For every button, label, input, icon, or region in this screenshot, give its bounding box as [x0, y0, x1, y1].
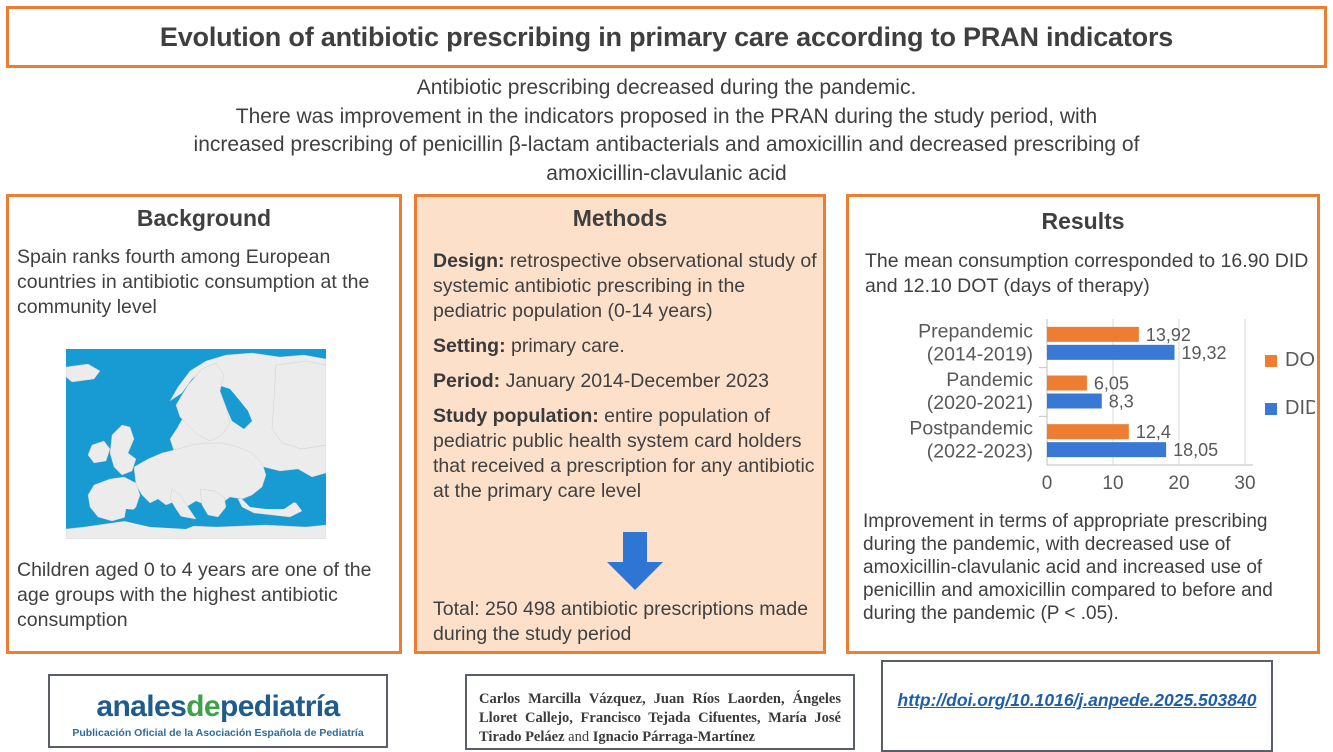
chart-xtick-label: 10 — [1102, 473, 1123, 494]
authors-conjunction: and — [565, 729, 593, 745]
chart-category-label: (2022-2023) — [927, 441, 1033, 463]
journal-logo-part1: anales — [96, 690, 186, 723]
chart-legend-label: DOT — [1285, 349, 1315, 371]
chart-category-label: Pandemic — [946, 369, 1033, 391]
europe-map-svg — [66, 349, 326, 539]
authors-after: Ignacio Párraga-Martínez — [593, 729, 755, 745]
chart-value-label: 13,92 — [1146, 325, 1191, 345]
methods-item-period: Period: January 2014-December 2023 — [433, 369, 817, 394]
methods-item-period-value: January 2014-December 2023 — [500, 370, 769, 392]
chart-category-label: Prepandemic — [918, 320, 1033, 342]
journal-logo-part3: pediatría — [220, 690, 340, 723]
chart-value-label: 8,3 — [1109, 392, 1134, 412]
authors-list: Carlos Marcilla Vázquez, Juan Ríos Laord… — [467, 676, 853, 747]
methods-item-design: Design: retrospective observational stud… — [433, 249, 817, 324]
chart-category-label: Postpandemic — [909, 418, 1033, 440]
methods-item-population-label: Study population: — [433, 405, 599, 427]
abstract-summary: Antibiotic prescribing decreased during … — [20, 74, 1313, 188]
chart-category-label: (2014-2019) — [927, 343, 1033, 365]
chart-bar-dot — [1047, 327, 1139, 342]
page-title: Evolution of antibiotic prescribing in p… — [160, 22, 1173, 53]
results-tail-text: Improvement in terms of appropriate pres… — [863, 510, 1315, 625]
journal-logo-wordmark: analesdepediatría — [50, 690, 386, 724]
doi-link[interactable]: http://doi.org/10.1016/j.anpede.2025.503… — [883, 690, 1271, 711]
bar-chart-svg: 0102030Prepandemic(2014-2019)13,9219,32P… — [857, 313, 1315, 503]
chart-bar-dot — [1047, 424, 1129, 439]
authors-box: Carlos Marcilla Vázquez, Juan Ríos Laord… — [465, 674, 855, 750]
chart-category-label: (2020-2021) — [927, 392, 1033, 414]
methods-total-text: Total: 250 498 antibiotic prescriptions … — [433, 597, 823, 647]
down-arrow-svg — [603, 532, 667, 592]
chart-value-label: 12,4 — [1136, 422, 1171, 442]
chart-bar-dot — [1047, 376, 1087, 391]
chart-xtick-label: 20 — [1168, 473, 1189, 494]
panel-methods-title: Methods — [417, 205, 823, 232]
chart-bar-did — [1047, 345, 1175, 360]
summary-line-3: increased prescribing of penicillin β-la… — [20, 131, 1313, 160]
chart-legend-swatch — [1265, 403, 1277, 415]
summary-line-4: amoxicillin-clavulanic acid — [20, 160, 1313, 189]
methods-item-period-label: Period: — [433, 370, 500, 392]
background-text-bottom: Children aged 0 to 4 years are one of th… — [17, 558, 403, 633]
methods-item-population: Study population: entire population of p… — [433, 404, 817, 504]
chart-value-label: 19,32 — [1182, 343, 1227, 363]
abstract-title-box: Evolution of antibiotic prescribing in p… — [6, 6, 1327, 68]
chart-xtick-label: 30 — [1234, 473, 1255, 494]
summary-line-2: There was improvement in the indicators … — [20, 103, 1313, 132]
background-text-top: Spain ranks fourth among European countr… — [17, 245, 401, 320]
chart-bar-did — [1047, 394, 1102, 409]
down-arrow-icon — [603, 532, 667, 592]
chart-value-label: 18,05 — [1173, 440, 1218, 460]
methods-item-setting: Setting: primary care. — [433, 334, 817, 359]
journal-logo-subtitle: Publicación Oficial de la Asociación Esp… — [50, 727, 386, 739]
journal-logo-box: analesdepediatría Publicación Oficial de… — [48, 674, 388, 748]
methods-item-setting-value: primary care. — [506, 335, 625, 357]
panel-results: Results The mean consumption corresponde… — [846, 194, 1320, 654]
summary-line-1: Antibiotic prescribing decreased during … — [20, 74, 1313, 103]
methods-list: Design: retrospective observational stud… — [433, 249, 817, 514]
results-bar-chart: 0102030Prepandemic(2014-2019)13,9219,32P… — [857, 313, 1315, 503]
chart-xtick-label: 0 — [1042, 473, 1053, 494]
methods-item-setting-label: Setting: — [433, 335, 506, 357]
chart-legend-label: DID — [1285, 397, 1315, 419]
panel-methods: Methods Design: retrospective observatio… — [414, 194, 826, 654]
panel-background-title: Background — [9, 205, 399, 232]
journal-logo-part2: de — [186, 690, 220, 723]
chart-value-label: 6,05 — [1094, 374, 1129, 394]
chart-legend-swatch — [1265, 355, 1277, 367]
results-lead-text: The mean consumption corresponded to 16.… — [865, 249, 1311, 299]
panel-results-title: Results — [849, 208, 1317, 235]
methods-item-design-label: Design: — [433, 250, 505, 272]
chart-bar-did — [1047, 442, 1166, 457]
doi-box: http://doi.org/10.1016/j.anpede.2025.503… — [881, 660, 1273, 752]
panel-background: Background Spain ranks fourth among Euro… — [6, 194, 402, 654]
europe-map-image — [66, 349, 326, 539]
